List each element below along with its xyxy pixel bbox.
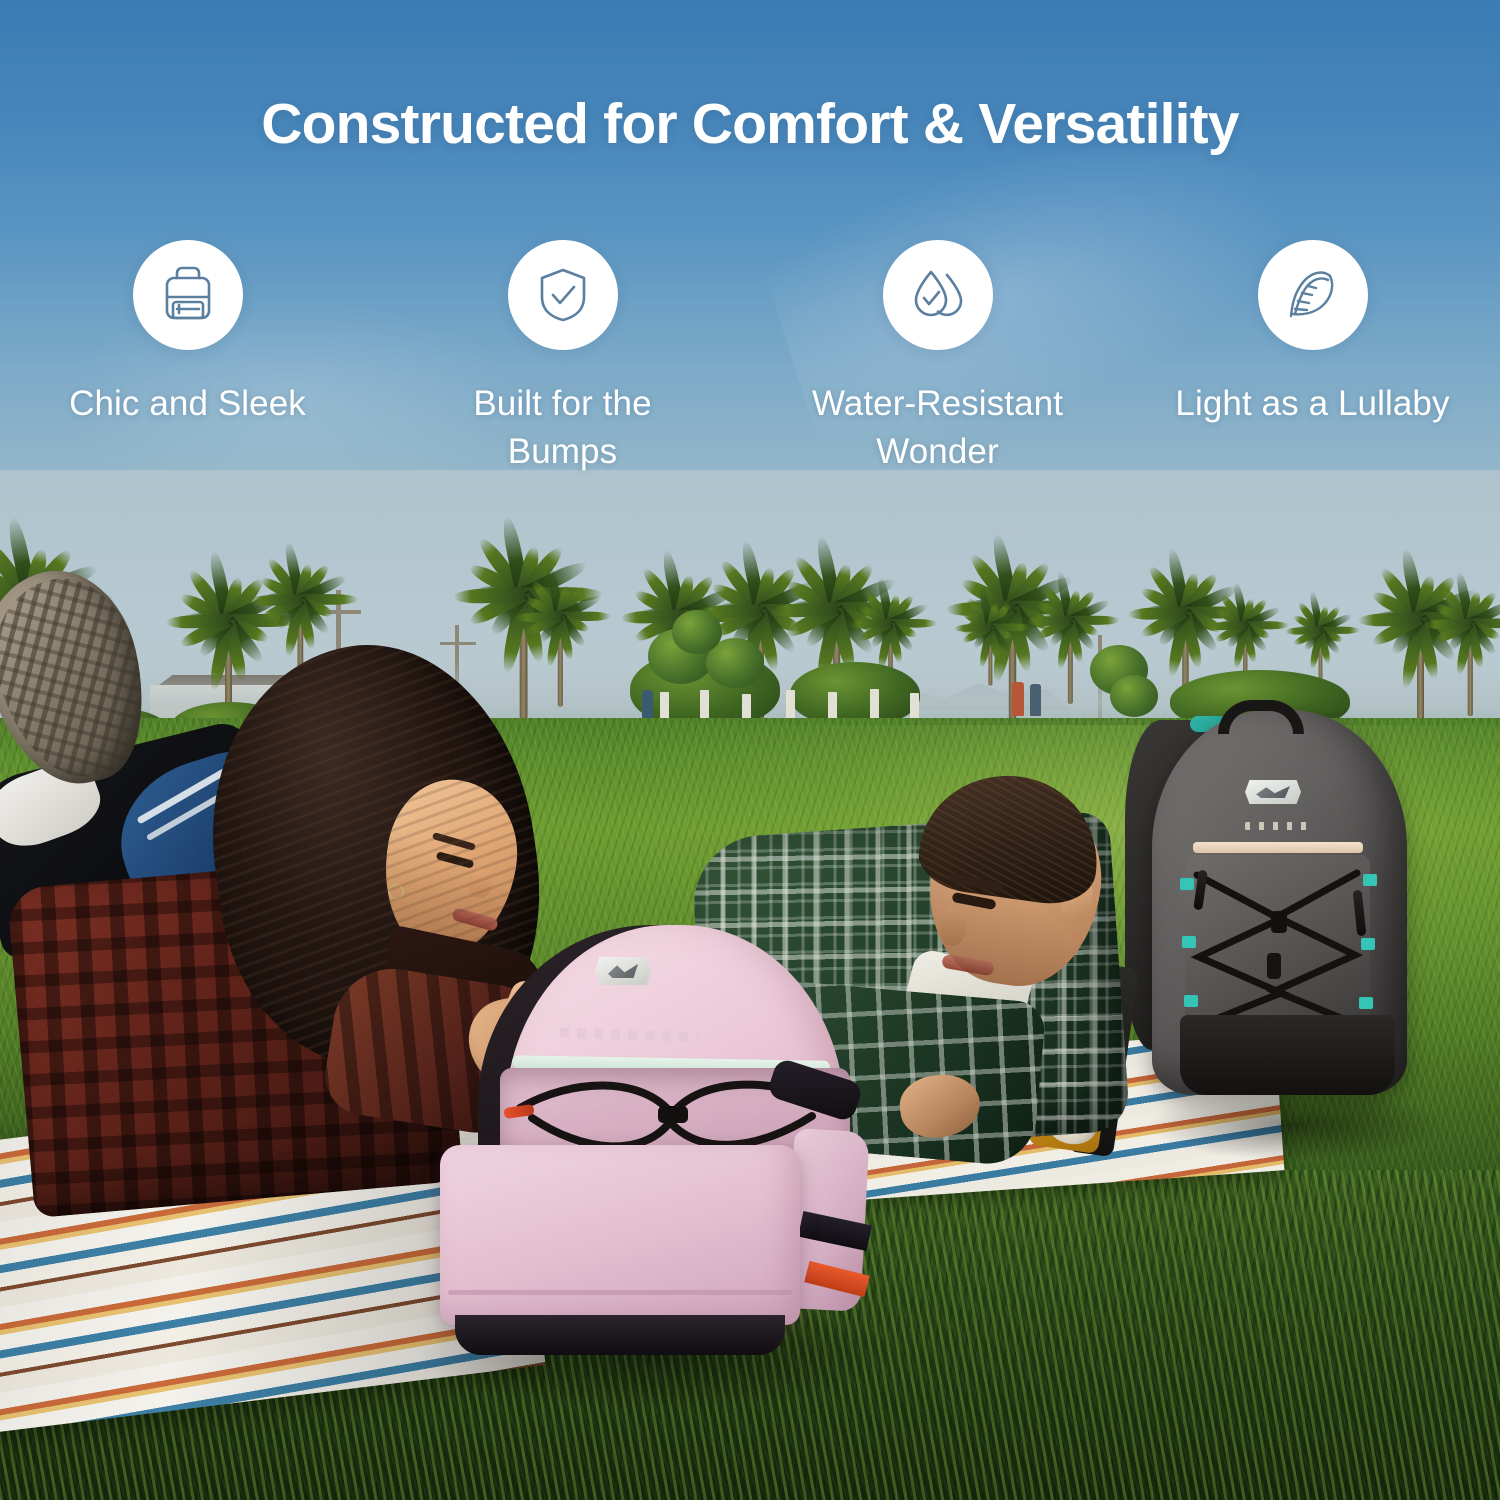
feature-item-built-for-the-bumps: Built for the Bumps: [375, 240, 750, 476]
gray-backpack-teal-tab: [1363, 874, 1377, 886]
marketing-banner: Constructed for Comfort & Versatility Ch…: [0, 0, 1500, 1500]
page-title: Constructed for Comfort & Versatility: [0, 92, 1500, 156]
gray-backpack-tape-trim: [1193, 842, 1363, 853]
gray-backpack-bungee-cord: [1185, 853, 1370, 1033]
palm-frond: [954, 624, 990, 633]
gray-backpack-base: [1180, 1015, 1395, 1095]
palm-tree: [539, 580, 580, 705]
feather-icon: [1258, 240, 1368, 350]
topiary-ball: [672, 610, 722, 654]
pink-backpack-pocket-seam: [448, 1290, 792, 1295]
pink-backpack-base: [455, 1315, 785, 1355]
distant-person: [1030, 684, 1041, 716]
palm-frond: [1424, 619, 1470, 630]
water-droplet-check-icon: [883, 240, 993, 350]
palm-tree: [977, 598, 1004, 679]
palm-frond: [621, 610, 680, 624]
bush: [790, 662, 920, 726]
feature-item-light-as-a-lullaby: Light as a Lullaby: [1125, 240, 1500, 476]
palm-frond: [1206, 621, 1245, 630]
gray-backpack-teal-tab: [1180, 878, 1194, 890]
palm-tree: [1050, 585, 1089, 701]
backpack-icon: [133, 240, 243, 350]
palm-frond: [249, 594, 300, 606]
palm-frond: [166, 614, 228, 629]
gray-backpack-teal-tab: [1182, 936, 1196, 948]
feature-label: Water-Resistant Wonder: [798, 380, 1078, 476]
feature-item-chic-and-sleek: Chic and Sleek: [0, 240, 375, 476]
palm-tree: [1448, 586, 1492, 715]
pink-backpack-front-pocket: [440, 1145, 800, 1325]
gray-backpack-teal-tab: [1361, 938, 1375, 950]
palm-frond: [1358, 612, 1420, 627]
palm-frond: [515, 612, 560, 623]
gray-backpack-teal-tab: [1359, 997, 1373, 1009]
palm-frond: [849, 619, 890, 629]
gray-backpack-teal-tab: [1184, 995, 1198, 1007]
topiary-ball: [1110, 675, 1158, 717]
palm-frond: [1026, 616, 1070, 627]
palm-frond: [1128, 606, 1185, 620]
palm-tree: [1307, 602, 1332, 677]
feature-list: Chic and Sleek Built for the Bumps Water…: [0, 240, 1500, 476]
feature-label: Built for the Bumps: [423, 380, 703, 476]
gray-backpack-shadow: [1150, 1090, 1440, 1160]
utility-pole-crossbar: [440, 642, 476, 645]
palm-frond: [1285, 627, 1320, 635]
lifestyle-photo: [0, 470, 1500, 1500]
gray-backpack-wordmark: [1245, 822, 1315, 830]
feature-label: Chic and Sleek: [48, 380, 328, 428]
palm-frond: [771, 602, 837, 618]
distant-person: [1012, 682, 1024, 716]
feature-item-water-resistant-wonder: Water-Resistant Wonder: [750, 240, 1125, 476]
shield-check-icon: [508, 240, 618, 350]
feature-label: Light as a Lullaby: [1173, 380, 1453, 428]
